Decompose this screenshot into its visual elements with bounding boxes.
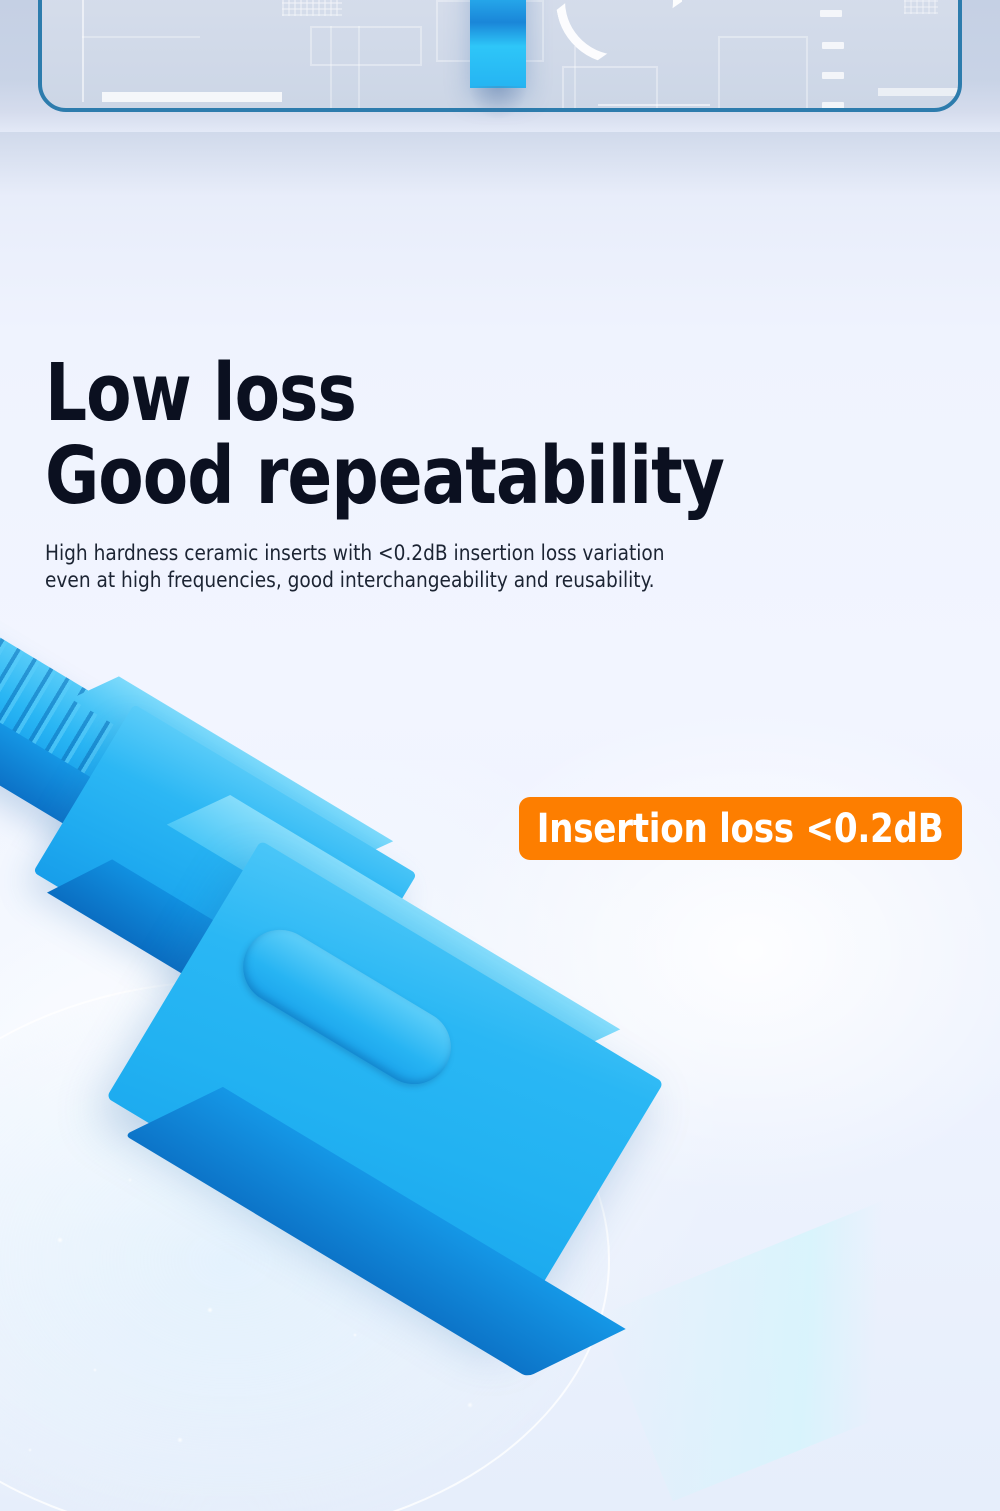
top-banner-band (0, 0, 1000, 132)
body-line-1: High hardness ceramic inserts with <0.2d… (45, 540, 813, 567)
circuit-pad (820, 10, 842, 17)
circuit-pad (822, 102, 844, 109)
headline-line-1: Low loss (45, 352, 789, 435)
circuit-line (102, 92, 282, 102)
circuit-pad (822, 72, 844, 79)
circuit-line (82, 0, 84, 102)
insertion-loss-badge-label: Insertion loss <0.2dB (537, 809, 944, 849)
copy-block: Low loss Good repeatability High hardnes… (45, 352, 845, 594)
accent-bar (470, 0, 526, 88)
circuit-line (598, 104, 710, 106)
chip-pattern (904, 0, 938, 14)
circuit-line (878, 88, 962, 96)
insertion-loss-badge: Insertion loss <0.2dB (519, 797, 962, 860)
circuit-line (82, 36, 200, 38)
chip-pattern (282, 0, 342, 16)
circuit-box (718, 36, 808, 112)
circuit-box (310, 26, 422, 66)
product-feature-page: Low loss Good repeatability High hardnes… (0, 0, 1000, 1511)
circuit-pad (822, 42, 844, 49)
accent-bar-shadow (468, 86, 528, 120)
product-illustration (0, 630, 1000, 1511)
headline-line-2: Good repeatability (45, 435, 789, 518)
body-line-2: even at high frequencies, good interchan… (45, 567, 813, 594)
